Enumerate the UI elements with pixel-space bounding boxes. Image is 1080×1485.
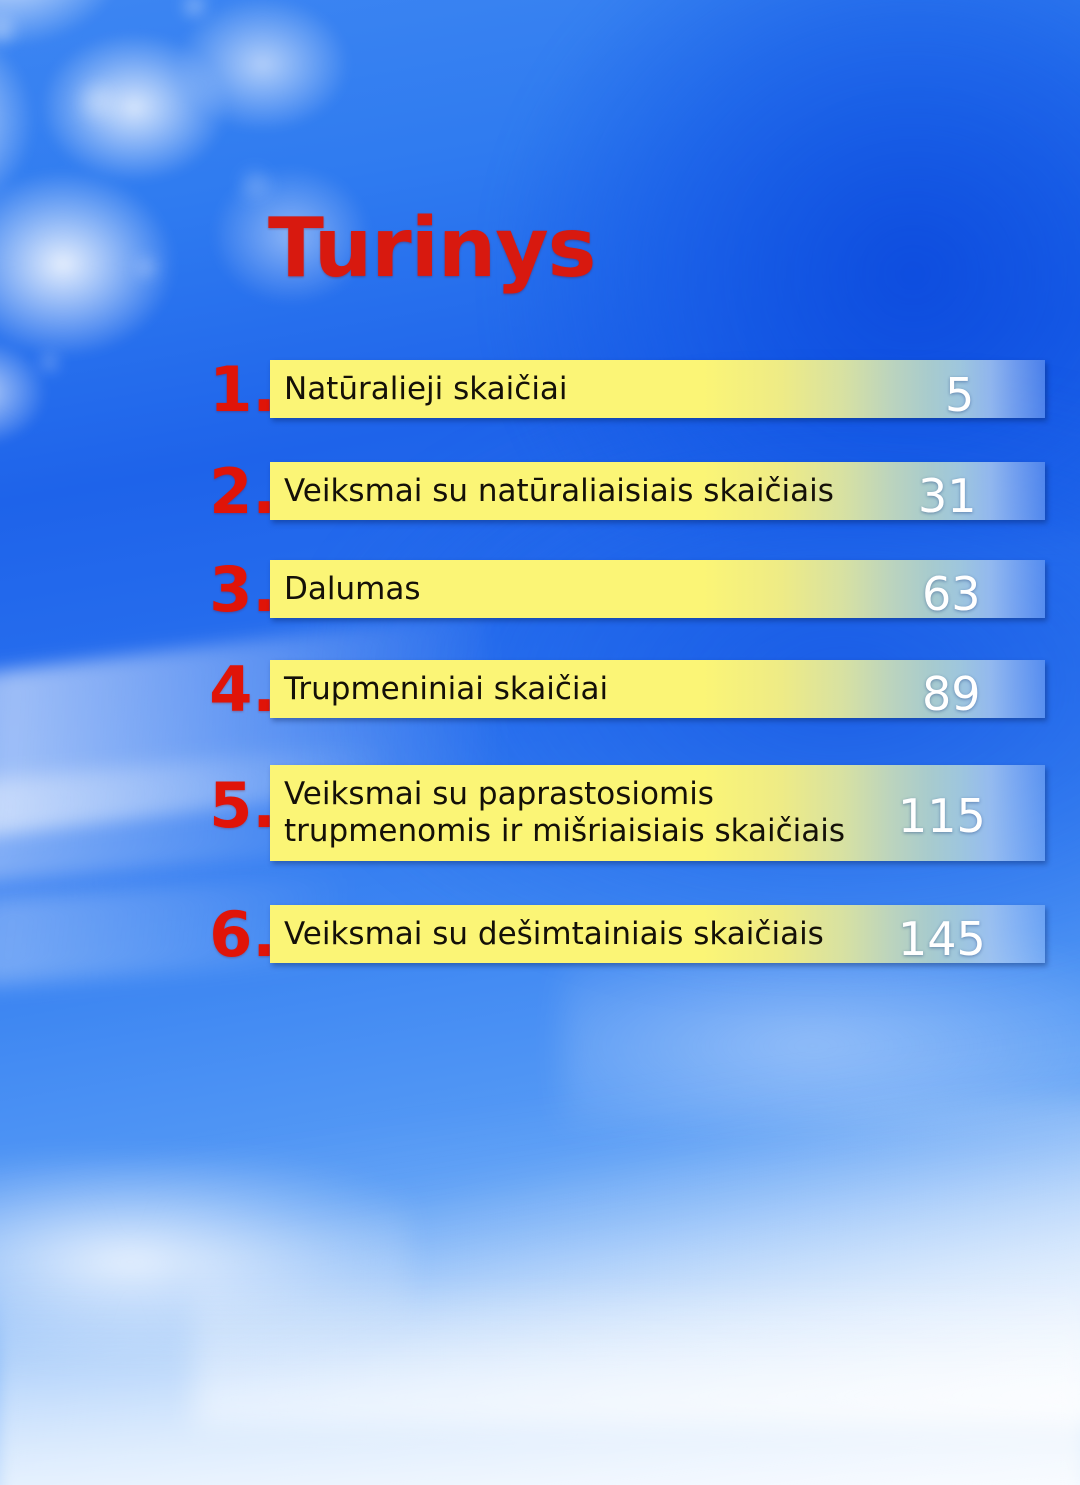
toc-entry-number-1: 1. xyxy=(198,359,276,421)
toc-entry-page-4: 89 xyxy=(922,671,981,717)
toc-entry-number-6: 6. xyxy=(198,904,276,966)
page-title: Turinys xyxy=(268,208,596,290)
toc-entry-page-2: 31 xyxy=(918,473,977,519)
toc-entry-number-4: 4. xyxy=(198,659,276,721)
toc-entry-page-3: 63 xyxy=(922,571,981,617)
toc-entry-1[interactable]: 1. Natūralieji skaičiai 5 xyxy=(0,360,1080,418)
toc-entry-page-6: 145 xyxy=(898,916,986,962)
toc-entry-number-5: 5. xyxy=(198,775,276,837)
toc-entry-label-4: Trupmeniniai skaičiai xyxy=(270,671,608,708)
toc-entry-3[interactable]: 3. Dalumas 63 xyxy=(0,560,1080,618)
toc-entry-page-5: 115 xyxy=(898,793,986,839)
toc-entry-label-3: Dalumas xyxy=(270,571,420,608)
toc-entry-page-1: 5 xyxy=(945,372,974,418)
toc-entry-2[interactable]: 2. Veiksmai su natūraliaisiais skaičiais… xyxy=(0,462,1080,520)
toc-entry-number-3: 3. xyxy=(198,559,276,621)
toc-entry-4[interactable]: 4. Trupmeniniai skaičiai 89 xyxy=(0,660,1080,718)
page-content: Turinys 1. Natūralieji skaičiai 5 2. Vei… xyxy=(0,0,1080,1485)
toc-entry-6[interactable]: 6. Veiksmai su dešimtainiais skaičiais 1… xyxy=(0,905,1080,963)
toc-entry-label-5: Veiksmai su paprastosiomis trupmenomis i… xyxy=(270,776,845,849)
toc-entry-bar-1[interactable]: Natūralieji skaičiai xyxy=(270,360,1045,418)
toc-entry-label-1: Natūralieji skaičiai xyxy=(270,371,568,408)
toc-page: Turinys 1. Natūralieji skaičiai 5 2. Vei… xyxy=(0,0,1080,1485)
toc-entry-label-2: Veiksmai su natūraliaisiais skaičiais xyxy=(270,473,834,510)
toc-entry-number-2: 2. xyxy=(198,461,276,523)
toc-entry-label-6: Veiksmai su dešimtainiais skaičiais xyxy=(270,916,824,953)
toc-entry-5[interactable]: 5. Veiksmai su paprastosiomis trupmenomi… xyxy=(0,765,1080,861)
